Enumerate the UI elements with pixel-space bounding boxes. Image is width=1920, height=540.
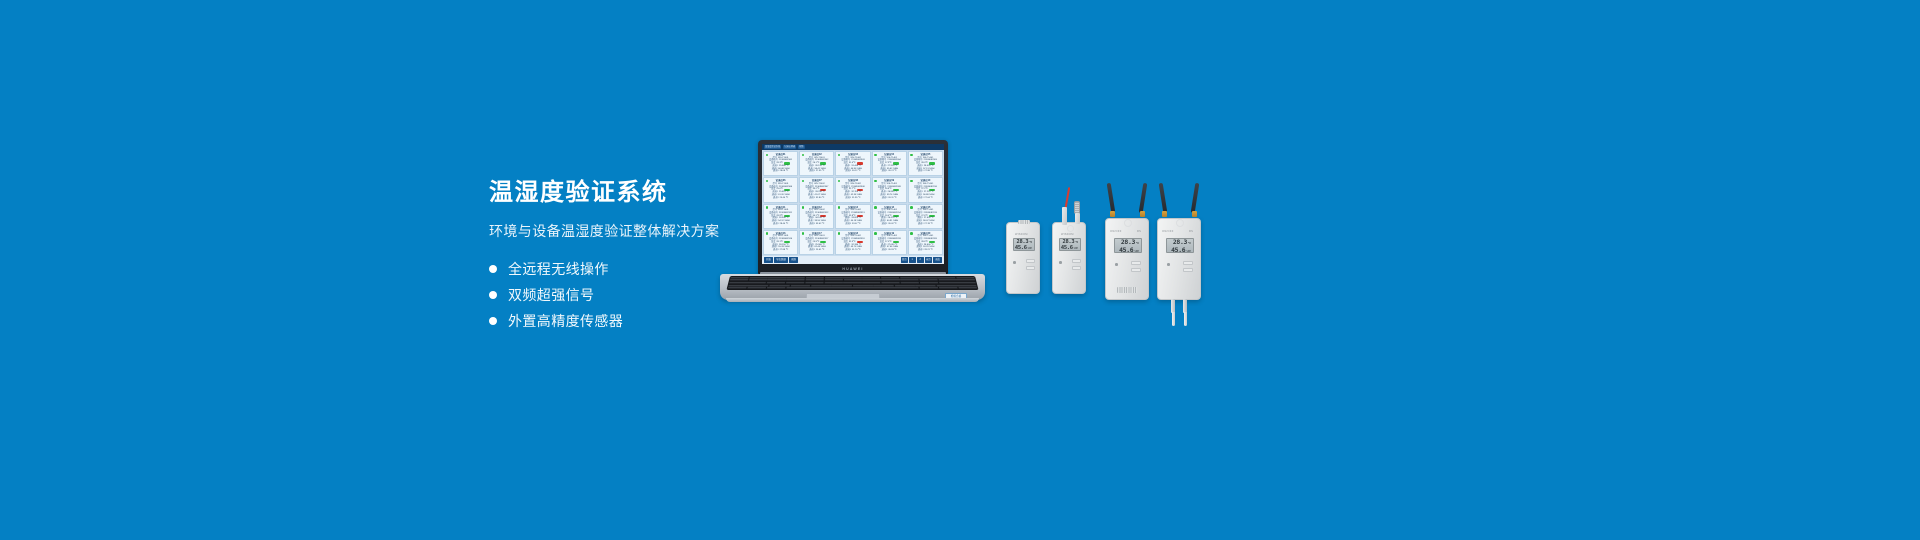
logger-card[interactable]: 记录仪07型号WS-T1402设备编号21309082307温度33.2℃通道1… <box>799 177 834 202</box>
device-hang-loop <box>1124 219 1132 227</box>
logger-card[interactable]: 记录仪09型号WS-T1401设备编号21309082309温度26.8℃通道1… <box>872 177 907 202</box>
key-arrow[interactable] <box>958 287 977 289</box>
device-status-led <box>1013 261 1016 264</box>
list-item: 外置高精度传感器 <box>489 313 819 329</box>
logger-card[interactable]: 记录仪10型号WS-T1401设备编号21309082310温度27.2℃通道1… <box>908 177 943 202</box>
laptop-front-lip <box>726 298 979 302</box>
bullet-dot-icon <box>489 291 497 299</box>
device-button-up[interactable] <box>1131 261 1141 265</box>
logger-channel-3: 通道327.04 ℃ <box>910 197 940 200</box>
device-lcd-display: 28.3 ℃ 45.6 %RH <box>1059 238 1081 251</box>
feature-label: 全远程无线操作 <box>508 259 609 279</box>
device-button-up[interactable] <box>1072 259 1081 263</box>
logger-card[interactable]: 记录仪01型号WS-T1401设备编号21309082301温度28.3℃通道1… <box>763 151 798 176</box>
probe-connector-right <box>1075 213 1080 224</box>
lcd-humidity-line: 45.6 %RH <box>1169 246 1191 254</box>
device-status-led <box>1059 261 1062 264</box>
logger-channel-3: 通道327.98 ℃ <box>910 170 940 173</box>
logger-card[interactable]: 记录仪02型号WS-T1401设备编号21309082302温度26.1℃通道1… <box>799 151 834 176</box>
logger-channel-3-value: 30.12 ℃ <box>852 170 861 173</box>
key-alt[interactable] <box>767 287 786 289</box>
device-button-down[interactable] <box>1183 268 1193 272</box>
device-hang-loop <box>1067 225 1074 232</box>
start-button[interactable]: 开始 <box>764 257 773 263</box>
logger-channel-3-value: 27.35 ℃ <box>816 170 825 173</box>
logger-channel-3-label: 通道3 <box>918 223 924 226</box>
logger-channel-3: 通道330.12 ℃ <box>838 170 868 173</box>
probe-tip-a <box>1172 312 1175 326</box>
page-last-button[interactable]: 末页 <box>925 257 932 263</box>
logger-channel-3-label: 通道3 <box>773 197 779 200</box>
logger-channel-3-label: 通道3 <box>809 223 815 226</box>
device-button-down[interactable] <box>1131 268 1141 272</box>
laptop-keyboard[interactable] <box>726 276 978 290</box>
device-hang-loop <box>1176 219 1184 227</box>
logger-channel-3-value: 27.98 ℃ <box>924 170 933 173</box>
logger-channel-3-label: 通道3 <box>918 249 924 252</box>
device-button-up[interactable] <box>1026 259 1035 263</box>
antenna-left-base <box>1110 211 1115 217</box>
device-port-right-label: RS <box>1137 230 1141 233</box>
logger-card[interactable]: 记录仪19型号WS-T1401设备编号21309082319温度27.0℃通道1… <box>872 230 907 255</box>
key-ctrl[interactable] <box>727 287 746 289</box>
logger-channel-3: 通道326.93 ℃ <box>874 249 904 252</box>
logger-status-led-icon <box>766 154 769 157</box>
logger-status-led-icon <box>874 154 877 157</box>
logger-channel-3: 通道327.19 ℃ <box>910 223 940 226</box>
device-port-left-label: ON/OFF <box>1110 230 1122 233</box>
device-button-down[interactable] <box>1072 266 1081 270</box>
laptop-base: 检验合格 <box>720 274 985 300</box>
pagination: 首页 1 2 末页 <box>901 257 932 263</box>
logger-channel-3-value: 27.19 ℃ <box>924 223 933 226</box>
logger-card[interactable]: 记录仪12型号WS-T1402设备编号21309082312温度34.1℃通道1… <box>799 204 834 229</box>
logger-channel-3: 通道333.62 ℃ <box>802 223 832 226</box>
bullet-dot-icon <box>489 265 497 273</box>
hero-banner: 温湿度验证系统 环境与设备温湿度验证整体解决方案 全远程无线操作 双频超强信号 … <box>0 0 1920 540</box>
lcd-humidity-value: 45.6 <box>1119 246 1133 254</box>
logger-card[interactable]: 记录仪05型号WS-T1401设备编号21309082305温度28.0℃通道1… <box>908 151 943 176</box>
lcd-humidity-line: 45.6 %RH <box>1016 245 1032 251</box>
logger-status-led-icon <box>766 206 769 209</box>
logger-channel-3-value: 26.93 ℃ <box>888 249 897 252</box>
lcd-temperature-line: 28.3 ℃ <box>1169 238 1191 246</box>
logger-card-grid: 记录仪01型号WS-T1401设备编号21309082301温度28.3℃通道1… <box>762 150 944 256</box>
logger-channel-3: 通道325.61 ℃ <box>802 249 832 252</box>
lcd-humidity-value: 45.6 <box>1061 245 1073 251</box>
logger-card[interactable]: 记录仪13型号WS-T1402设备编号21309082313温度33.8℃通道1… <box>835 204 870 229</box>
lcd-temperature-value: 28.3 <box>1173 238 1187 246</box>
logger-status-led-icon <box>910 232 913 235</box>
feature-label: 外置高精度传感器 <box>508 311 623 331</box>
logger-channel-3-label: 通道3 <box>918 170 924 173</box>
sensor-device-group: WISDOM 28.3 ℃ 45.6 %RH WISDOM <box>1000 190 1240 320</box>
antenna-right-icon <box>1191 183 1200 213</box>
page-first-button[interactable]: 首页 <box>901 257 908 263</box>
logger-channel-3: 通道331.70 ℃ <box>838 249 868 252</box>
probe-stem-b <box>1183 299 1187 313</box>
device-logger-probe[interactable]: WISDOM 28.3 ℃ 45.6 %RH <box>1052 222 1086 294</box>
logger-channel-3-label: 通道3 <box>845 197 851 200</box>
logger-channel-3-label: 通道3 <box>882 249 888 252</box>
device-port-right-label: RS <box>1189 230 1193 233</box>
key-alt-right[interactable] <box>919 287 938 289</box>
lcd-temperature-unit: ℃ <box>1188 242 1191 245</box>
lcd-humidity-unit: %RH <box>1074 247 1078 250</box>
logger-channel-3-value: 31.70 ℃ <box>852 249 861 252</box>
logger-status-led-icon <box>874 206 877 209</box>
laptop-product-image: 温湿度验证系统 记录仪列表 帮助 记录仪01型号WS-T1401设备编号2130… <box>720 140 985 300</box>
logger-channel-3-value: 25.44 ℃ <box>780 197 789 200</box>
logger-channel-3: 通道332.80 ℃ <box>802 197 832 200</box>
lcd-humidity-unit: %RH <box>1186 250 1191 253</box>
antenna-left-base <box>1162 211 1167 217</box>
key-fn[interactable] <box>747 287 766 289</box>
device-status-led <box>1115 263 1118 266</box>
probe-connector-left <box>1062 207 1067 225</box>
device-brand-label: WISDOM <box>1061 233 1074 236</box>
logger-channel-3-label: 通道3 <box>773 249 779 252</box>
export-data-button[interactable]: 导出数据 <box>774 257 788 263</box>
lcd-temperature-unit: ℃ <box>1136 242 1139 245</box>
page-2-button[interactable]: 2 <box>917 257 924 263</box>
logger-channel-3-value: 26.02 ℃ <box>888 223 897 226</box>
exit-button[interactable]: 退出 <box>933 257 942 263</box>
logger-channel-3: 通道328.40 ℃ <box>766 223 796 226</box>
logger-channel-3-value: 32.80 ℃ <box>816 197 825 200</box>
logger-card[interactable]: 记录仪18型号WS-T1402设备编号21309082318温度32.3℃通道1… <box>835 230 870 255</box>
device-lcd-display: 28.3 ℃ 45.6 %RH <box>1114 238 1142 253</box>
device-lcd-display: 28.3 ℃ 45.6 %RH <box>1013 238 1035 251</box>
logger-channel-3: 通道326.02 ℃ <box>874 223 904 226</box>
device-logger-dual-antenna-1[interactable]: ON/OFF RS 28.3 ℃ 45.6 %RH <box>1105 218 1149 300</box>
lcd-temperature-unit: ℃ <box>1075 241 1078 244</box>
key-space[interactable] <box>786 287 919 289</box>
lcd-temperature-line: 28.3 ℃ <box>1117 238 1139 246</box>
logger-status-led-icon <box>910 206 913 209</box>
logger-channel-3-label: 通道3 <box>882 170 888 173</box>
logger-channel-3-value: 33.07 ℃ <box>852 223 861 226</box>
logger-channel-3: 通道327.88 ℃ <box>766 249 796 252</box>
feature-label: 双频超强信号 <box>508 285 594 305</box>
logger-channel-3: 通道327.35 ℃ <box>802 170 832 173</box>
logger-channel-3-label: 通道3 <box>882 197 888 200</box>
app-bottombar: 开始 导出数据 刷新 首页 1 2 末页 退出 <box>762 256 944 264</box>
probe-tip-b <box>1184 312 1187 326</box>
logger-channel-3-value: 33.62 ℃ <box>816 223 825 226</box>
logger-channel-3-label: 通道3 <box>845 223 851 226</box>
logger-card[interactable]: 记录仪17型号WS-T1401设备编号21309082317温度25.9℃通道1… <box>799 230 834 255</box>
antenna-right-base <box>1140 211 1145 217</box>
logger-status-led-icon <box>766 232 769 235</box>
logger-channel-3-value: 26.74 ℃ <box>888 170 897 173</box>
logger-card[interactable]: 记录仪06型号WS-T1401设备编号21309082306温度25.6℃通道1… <box>763 177 798 202</box>
logger-channel-3: 通道326.11 ℃ <box>874 197 904 200</box>
keyboard-row <box>727 287 977 289</box>
logger-card[interactable]: 记录仪04型号WS-T1401设备编号21309082304温度27.9℃通道1… <box>872 151 907 176</box>
device-lcd-display: 28.3 ℃ 45.6 %RH <box>1166 238 1194 253</box>
antenna-left-icon <box>1159 183 1168 213</box>
logger-card[interactable]: 记录仪03型号WS-T1402设备编号21309082303温度31.4℃通道1… <box>835 151 870 176</box>
refresh-button[interactable]: 刷新 <box>789 257 798 263</box>
device-brand-label: WISDOM <box>1015 233 1028 236</box>
device-button-up[interactable] <box>1183 261 1193 265</box>
device-vent-grill <box>1117 287 1137 293</box>
logger-channel-3: 通道333.07 ℃ <box>838 223 868 226</box>
lcd-humidity-line: 45.6 %RH <box>1117 246 1139 254</box>
logger-channel-3-value: 28.21 ℃ <box>924 249 933 252</box>
logger-channel-3-label: 通道3 <box>845 249 851 252</box>
logger-card[interactable]: 记录仪20型号WS-T1401设备编号21309082320温度28.6℃通道1… <box>908 230 943 255</box>
device-vent-grill <box>1018 220 1030 224</box>
lcd-humidity-unit: %RH <box>1134 250 1139 253</box>
logger-card[interactable]: 记录仪16型号WS-T1401设备编号21309082316温度28.1℃通道1… <box>763 230 798 255</box>
logger-channel-3-label: 通道3 <box>882 223 888 226</box>
laptop-lid: 温湿度验证系统 记录仪列表 帮助 记录仪01型号WS-T1401设备编号2130… <box>758 140 948 274</box>
probe-stem-a <box>1171 299 1175 313</box>
logger-channel-3: 通道331.95 ℃ <box>838 197 868 200</box>
logger-channel-3: 通道325.44 ℃ <box>766 197 796 200</box>
logger-card[interactable]: 记录仪08型号WS-T1402设备编号21309082308温度32.7℃通道1… <box>835 177 870 202</box>
logger-channel-3-label: 通道3 <box>809 249 815 252</box>
antenna-right-base <box>1192 211 1197 217</box>
logger-status-led-icon <box>874 232 877 235</box>
logger-channel-3-value: 27.88 ℃ <box>780 249 789 252</box>
app-menu-item[interactable]: 温湿度验证系统 <box>764 145 781 149</box>
device-logger-basic-left[interactable]: WISDOM 28.3 ℃ 45.6 %RH <box>1006 222 1040 294</box>
lcd-temperature-value: 28.3 <box>1121 238 1135 246</box>
app-menu-item[interactable]: 帮助 <box>798 145 804 149</box>
logger-status-led-icon <box>802 206 805 209</box>
bullet-dot-icon <box>489 317 497 325</box>
logger-channel-3-label: 通道3 <box>918 197 924 200</box>
lcd-temperature-unit: ℃ <box>1029 241 1032 244</box>
lcd-humidity-value: 45.6 <box>1171 246 1185 254</box>
antenna-right-icon <box>1139 183 1148 213</box>
logger-channel-3-label: 通道3 <box>773 170 779 173</box>
logger-channel-3: 通道328.21 ℃ <box>910 249 940 252</box>
logger-channel-3-value: 31.95 ℃ <box>852 197 861 200</box>
logger-card[interactable]: 记录仪11型号WS-T1401设备编号21309082311温度28.9℃通道1… <box>763 204 798 229</box>
app-menu-item[interactable]: 记录仪列表 <box>783 145 796 149</box>
logger-channel-3-value: 28.08 ℃ <box>780 170 789 173</box>
logger-channel-3-value: 27.04 ℃ <box>924 197 933 200</box>
logger-status-led-icon <box>802 232 805 235</box>
lcd-humidity-unit: %RH <box>1028 247 1032 250</box>
device-logger-dual-antenna-2[interactable]: ON/OFF RS 28.3 ℃ 45.6 %RH <box>1157 218 1201 300</box>
logger-channel-3: 通道328.08 ℃ <box>766 170 796 173</box>
laptop-screen: 温湿度验证系统 记录仪列表 帮助 记录仪01型号WS-T1401设备编号2130… <box>762 144 944 264</box>
antenna-left-icon <box>1107 183 1116 213</box>
logger-channel-3-value: 26.11 ℃ <box>888 197 896 200</box>
logger-card[interactable]: 记录仪14型号WS-T1401设备编号21309082314温度26.4℃通道1… <box>872 204 907 229</box>
logger-channel-3-value: 25.61 ℃ <box>816 249 825 252</box>
key-arrow[interactable] <box>939 287 958 289</box>
page-1-button[interactable]: 1 <box>909 257 916 263</box>
logger-channel-3: 通道326.74 ℃ <box>874 170 904 173</box>
device-status-led <box>1167 263 1170 266</box>
device-port-left-label: ON/OFF <box>1162 230 1174 233</box>
logger-status-led-icon <box>910 154 913 157</box>
logger-card[interactable]: 记录仪15型号WS-T1401设备编号21309082315温度27.6℃通道1… <box>908 204 943 229</box>
logger-channel-3-label: 通道3 <box>809 170 815 173</box>
logger-channel-3-label: 通道3 <box>845 170 851 173</box>
logger-channel-3-label: 通道3 <box>773 223 779 226</box>
logger-channel-3-label: 通道3 <box>809 197 815 200</box>
lcd-humidity-value: 45.6 <box>1015 245 1027 251</box>
logger-channel-3-value: 28.40 ℃ <box>780 223 789 226</box>
device-button-down[interactable] <box>1026 266 1035 270</box>
lcd-humidity-line: 45.6 %RH <box>1062 245 1078 251</box>
